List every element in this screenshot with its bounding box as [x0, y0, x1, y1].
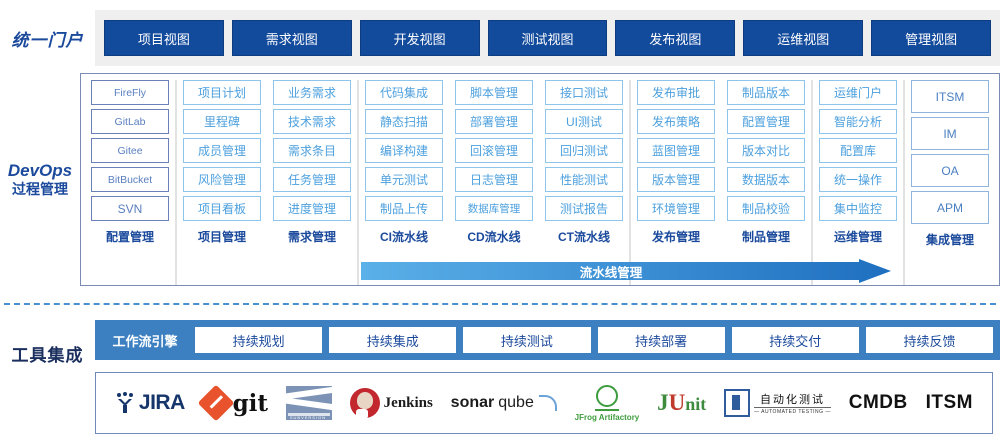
jfrog-artifactory-logo: JFrog Artifactory — [575, 385, 640, 422]
devops-cell[interactable]: FireFly — [91, 80, 169, 105]
sonarqube-wave-icon — [539, 395, 557, 411]
workflow-stage-button-1[interactable]: 持续规划 — [195, 327, 322, 353]
devops-cell[interactable]: 静态扫描 — [365, 109, 443, 134]
devops-column-运维管理: 运维门户智能分析配置库统一操作集中监控运维管理 — [813, 80, 903, 285]
devops-cell[interactable]: ITSM — [911, 80, 989, 113]
junit-wordmark: JUnit — [657, 390, 706, 416]
devops-column-CI流水线: 代码集成静态扫描编译构建单元测试制品上传CI流水线 — [359, 80, 449, 285]
devops-cell[interactable]: 制品上传 — [365, 196, 443, 221]
devops-cell[interactable]: 数据版本 — [727, 167, 805, 192]
unified-portal-label: 统一门户 — [0, 26, 95, 51]
devops-cell[interactable]: 发布审批 — [637, 80, 715, 105]
itsm-wordmark: ITSM — [926, 392, 973, 414]
devops-column-集成管理: ITSMIMOAAPM集成管理 — [905, 80, 995, 285]
devops-cell[interactable]: 性能测试 — [545, 167, 623, 192]
devops-group-4: 发布审批发布策略蓝图管理版本管理环境管理发布管理制品版本配置管理版本对比数据版本… — [629, 80, 811, 285]
devops-process-row: DevOps 过程管理 FireFlyGitLabGiteeBitBucketS… — [0, 72, 1000, 287]
devops-section-label: DevOps 过程管理 — [0, 160, 80, 199]
devops-label-line2: 过程管理 — [0, 181, 80, 199]
devops-cell[interactable]: 风险管理 — [183, 167, 261, 192]
devops-group-2: 项目计划里程碑成员管理风险管理项目看板项目管理业务需求技术需求需求条目任务管理进… — [175, 80, 357, 285]
devops-cell[interactable]: 运维门户 — [819, 80, 897, 105]
automated-testing-wordmark-en: — AUTOMATED TESTING — — [754, 407, 831, 415]
devops-cell[interactable]: 配置管理 — [727, 109, 805, 134]
devops-cell[interactable]: 部署管理 — [455, 109, 533, 134]
workflow-stage-button-2[interactable]: 持续集成 — [329, 327, 456, 353]
portal-view-button-2[interactable]: 需求视图 — [232, 20, 352, 56]
devops-cell[interactable]: 成员管理 — [183, 138, 261, 163]
subversion-icon: SUBVERSION — [286, 386, 332, 420]
devops-cell[interactable]: 回归测试 — [545, 138, 623, 163]
tool-integration-label: 工具集成 — [0, 315, 95, 366]
devops-cell[interactable]: 数据库管理 — [455, 196, 533, 221]
junit-letter-j: J — [657, 390, 669, 415]
devops-column-caption: 需求管理 — [288, 228, 336, 245]
portal-view-button-3[interactable]: 开发视图 — [360, 20, 480, 56]
itsm-logo: ITSM — [926, 392, 973, 414]
devops-column-需求管理: 业务需求技术需求需求条目任务管理进度管理需求管理 — [267, 80, 357, 285]
devops-cell[interactable]: IM — [911, 117, 989, 150]
devops-cell[interactable]: 项目计划 — [183, 80, 261, 105]
devops-column-caption: 运维管理 — [834, 228, 882, 245]
workflow-engine-bar: 工作流引擎 持续规划持续集成持续测试持续部署持续交付持续反馈 — [95, 320, 1000, 360]
devops-cell[interactable]: 环境管理 — [637, 196, 715, 221]
git-wordmark: git — [233, 390, 268, 417]
devops-cell[interactable]: 里程碑 — [183, 109, 261, 134]
devops-cell[interactable]: APM — [911, 191, 989, 224]
devops-cell[interactable]: 版本管理 — [637, 167, 715, 192]
devops-cell[interactable]: 测试报告 — [545, 196, 623, 221]
unified-portal-row: 统一门户 项目视图需求视图开发视图测试视图发布视图运维视图管理视图 — [0, 10, 1000, 66]
devops-column-制品管理: 制品版本配置管理版本对比数据版本制品校验制品管理 — [721, 80, 811, 285]
jfrog-bar-icon — [595, 409, 619, 411]
devops-cell[interactable]: 编译构建 — [365, 138, 443, 163]
devops-cell[interactable]: 进度管理 — [273, 196, 351, 221]
tool-logo-strip: JIRAgitSUBVERSIONJenkinssonarqubeJFrog A… — [95, 372, 993, 434]
devops-column-CD流水线: 脚本管理部署管理回滚管理日志管理数据库管理CD流水线 — [449, 80, 539, 285]
devops-cell[interactable]: 业务需求 — [273, 80, 351, 105]
devops-cell[interactable]: 集中监控 — [819, 196, 897, 221]
devops-cell[interactable]: 制品校验 — [727, 196, 805, 221]
devops-group-5: 运维门户智能分析配置库统一操作集中监控运维管理 — [811, 80, 903, 285]
subversion-wordmark: SUBVERSION — [290, 415, 326, 420]
workflow-engine-title: 工作流引擎 — [102, 331, 188, 350]
portal-view-button-1[interactable]: 项目视图 — [104, 20, 224, 56]
devops-cell[interactable]: 接口测试 — [545, 80, 623, 105]
devops-column-caption: CI流水线 — [380, 228, 428, 245]
jenkins-logo: Jenkins — [350, 388, 433, 418]
pipeline-flow-arrow: 流水线管理 — [361, 259, 891, 283]
devops-column-caption: 配置管理 — [106, 228, 154, 245]
git-diamond-icon — [197, 385, 234, 422]
devops-cell[interactable]: 日志管理 — [455, 167, 533, 192]
portal-view-button-5[interactable]: 发布视图 — [615, 20, 735, 56]
devops-cell[interactable]: 脚本管理 — [455, 80, 533, 105]
workflow-stage-button-6[interactable]: 持续反馈 — [866, 327, 993, 353]
devops-cell[interactable]: 单元测试 — [365, 167, 443, 192]
portal-view-button-7[interactable]: 管理视图 — [871, 20, 991, 56]
devops-column-caption: 集成管理 — [926, 231, 974, 248]
sonarqube-wordmark: qube — [498, 394, 534, 412]
portal-button-bar: 项目视图需求视图开发视图测试视图发布视图运维视图管理视图 — [95, 10, 1000, 66]
devops-cell[interactable]: 代码集成 — [365, 80, 443, 105]
devops-column-caption: CT流水线 — [558, 228, 610, 245]
devops-column-CT流水线: 接口测试UI测试回归测试性能测试测试报告CT流水线 — [539, 80, 629, 285]
sonarqube-logo: sonarqube — [451, 394, 557, 412]
devops-capability-panel: FireFlyGitLabGiteeBitBucketSVN配置管理项目计划里程… — [80, 73, 1000, 286]
devops-group-1: FireFlyGitLabGiteeBitBucketSVN配置管理 — [85, 80, 175, 285]
devops-cell[interactable]: SVN — [91, 196, 169, 221]
jenkins-wordmark: Jenkins — [384, 395, 433, 412]
devops-cell[interactable]: 制品版本 — [727, 80, 805, 105]
devops-cell[interactable]: 蓝图管理 — [637, 138, 715, 163]
junit-logo: JUnit — [657, 390, 706, 416]
devops-column-caption: 发布管理 — [652, 228, 700, 245]
jira-logo: JIRA — [115, 391, 185, 415]
devops-column-caption: 项目管理 — [198, 228, 246, 245]
devops-cell[interactable]: GitLab — [91, 109, 169, 134]
devops-cell[interactable]: UI测试 — [545, 109, 623, 134]
workflow-stage-button-5[interactable]: 持续交付 — [732, 327, 859, 353]
devops-cell[interactable]: 任务管理 — [273, 167, 351, 192]
devops-cell[interactable]: 智能分析 — [819, 109, 897, 134]
junit-letters-nit: nit — [685, 394, 706, 414]
jfrog-circle-icon — [596, 385, 618, 407]
workflow-stage-button-3[interactable]: 持续测试 — [463, 327, 590, 353]
devops-label-line1: DevOps — [0, 160, 80, 181]
pipeline-arrow-label: 流水线管理 — [361, 259, 861, 283]
devops-group-container: FireFlyGitLabGiteeBitBucketSVN配置管理项目计划里程… — [85, 80, 995, 285]
workflow-stage-button-4[interactable]: 持续部署 — [598, 327, 725, 353]
section-divider — [4, 303, 996, 305]
junit-letter-u: U — [669, 390, 686, 415]
devops-cell[interactable]: 配置库 — [819, 138, 897, 163]
devops-cell[interactable]: OA — [911, 154, 989, 187]
devops-column-caption: 制品管理 — [742, 228, 790, 245]
tool-integration-row: 工具集成 工作流引擎 持续规划持续集成持续测试持续部署持续交付持续反馈 — [0, 316, 1000, 364]
subversion-logo: SUBVERSION — [286, 386, 332, 420]
devops-group-3: 代码集成静态扫描编译构建单元测试制品上传CI流水线脚本管理部署管理回滚管理日志管… — [357, 80, 629, 285]
jira-wordmark: JIRA — [139, 391, 185, 415]
devops-column-发布管理: 发布审批发布策略蓝图管理版本管理环境管理发布管理 — [631, 80, 721, 285]
portal-view-button-4[interactable]: 测试视图 — [488, 20, 608, 56]
devops-group-6: ITSMIMOAAPM集成管理 — [903, 80, 995, 285]
automated-testing-logo: 自动化测试— AUTOMATED TESTING — — [724, 389, 831, 417]
devops-cell[interactable]: BitBucket — [91, 167, 169, 192]
devops-column-项目管理: 项目计划里程碑成员管理风险管理项目看板项目管理 — [177, 80, 267, 285]
cmdb-logo: CMDB — [849, 392, 908, 414]
devops-cell[interactable]: 统一操作 — [819, 167, 897, 192]
devops-cell[interactable]: 技术需求 — [273, 109, 351, 134]
jenkins-butler-icon — [350, 388, 380, 418]
automated-testing-wordmark-cn: 自动化测试 — [760, 391, 825, 407]
devops-cell[interactable]: 发布策略 — [637, 109, 715, 134]
git-logo: git — [203, 390, 268, 417]
jira-icon — [115, 392, 135, 414]
devops-column-配置管理: FireFlyGitLabGiteeBitBucketSVN配置管理 — [85, 80, 175, 285]
jfrog-mark: JFrog Artifactory — [575, 385, 640, 422]
devops-cell[interactable]: Gitee — [91, 138, 169, 163]
jfrog-wordmark: JFrog Artifactory — [575, 413, 640, 422]
portal-view-button-6[interactable]: 运维视图 — [743, 20, 863, 56]
devops-cell[interactable]: 项目看板 — [183, 196, 261, 221]
automated-testing-icon — [724, 389, 750, 417]
devops-cell[interactable]: 版本对比 — [727, 138, 805, 163]
cmdb-wordmark: CMDB — [849, 392, 908, 414]
devops-cell[interactable]: 回滚管理 — [455, 138, 533, 163]
devops-column-caption: CD流水线 — [467, 228, 520, 245]
devops-cell[interactable]: 需求条目 — [273, 138, 351, 163]
sonarqube-wordmark-bold: sonar — [451, 394, 495, 412]
